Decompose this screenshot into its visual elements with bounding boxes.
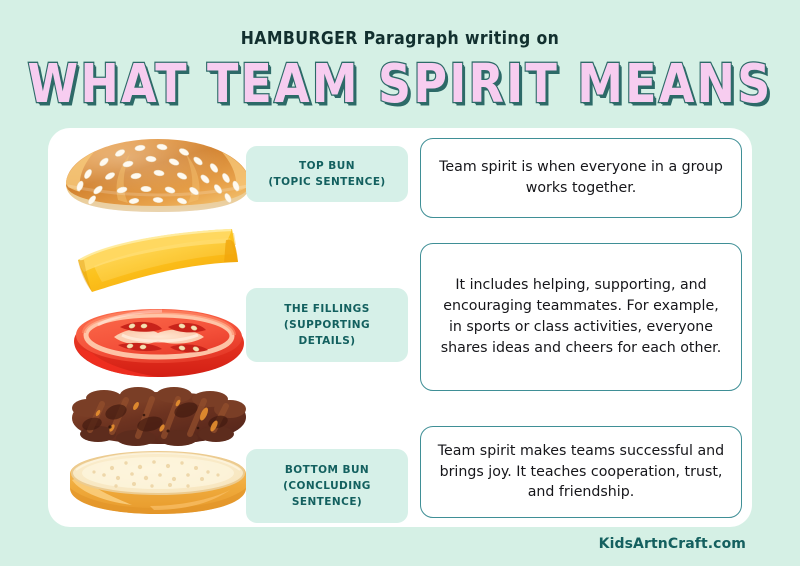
sentences-column: Team spirit is when everyone in a group … [420, 128, 745, 527]
label-line-1: TOP BUN [299, 158, 355, 174]
topic-sentence-text: Team spirit is when everyone in a group … [437, 157, 725, 199]
label-top-bun[interactable]: TOP BUN (TOPIC SENTENCE) [246, 146, 408, 202]
textbox-topic-sentence[interactable]: Team spirit is when everyone in a group … [420, 138, 742, 218]
label-line-2: (CONCLUDING [283, 478, 371, 494]
textbox-supporting-details[interactable]: It includes helping, supporting, and enc… [420, 243, 742, 391]
bottom-bun-icon [58, 448, 258, 524]
supporting-details-text: It includes helping, supporting, and enc… [437, 275, 725, 359]
label-line-3: SENTENCE) [292, 494, 362, 510]
page-header: HAMBURGER Paragraph writing on WHAT TEAM… [0, 0, 800, 102]
beef-patty-icon [58, 384, 258, 450]
page-subtitle: HAMBURGER Paragraph writing on [12, 28, 788, 49]
label-line-2: (TOPIC SENTENCE) [268, 174, 385, 190]
content-card: TOP BUN (TOPIC SENTENCE) THE FILLINGS (S… [48, 128, 752, 527]
sesame-top-bun-icon [58, 134, 258, 218]
cheese-slice-icon [58, 226, 258, 298]
hamburger-illustration [58, 130, 258, 525]
tomato-slice-icon [58, 297, 258, 387]
label-line-1: BOTTOM BUN [285, 462, 369, 478]
label-line-1: THE FILLINGS [284, 301, 370, 317]
label-the-fillings[interactable]: THE FILLINGS (SUPPORTING DETAILS) [246, 288, 408, 362]
labels-column: TOP BUN (TOPIC SENTENCE) THE FILLINGS (S… [246, 128, 426, 527]
label-bottom-bun[interactable]: BOTTOM BUN (CONCLUDING SENTENCE) [246, 449, 408, 523]
label-line-2: (SUPPORTING [284, 317, 370, 333]
site-watermark[interactable]: KidsArtnCraft.com [599, 536, 746, 552]
page-title: WHAT TEAM SPIRIT MEANS [0, 57, 800, 110]
label-line-3: DETAILS) [299, 333, 356, 349]
textbox-concluding-sentence[interactable]: Team spirit makes teams successful and b… [420, 426, 742, 518]
concluding-sentence-text: Team spirit makes teams successful and b… [437, 441, 725, 504]
